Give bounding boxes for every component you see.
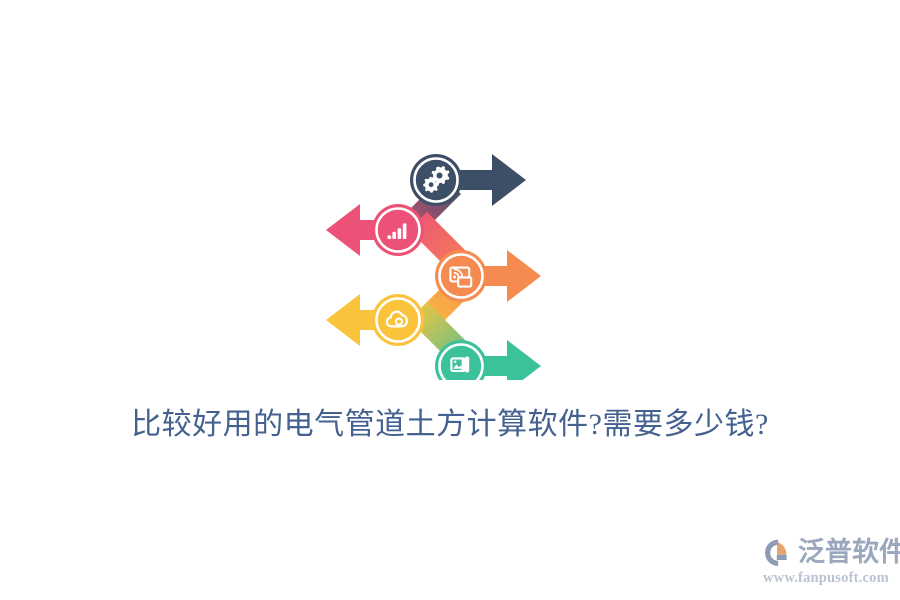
node-2-bar-chart[interactable] [326, 204, 424, 256]
arrow-diagram-svg [296, 140, 556, 380]
logo-fan-shape [777, 542, 786, 554]
node-5-photo-gallery[interactable] [435, 340, 541, 380]
node-4-cloud-sync[interactable] [326, 294, 424, 346]
node-3-badge-ring [435, 250, 487, 302]
logo-bracket-shape [765, 540, 778, 566]
arrow-process-diagram [296, 140, 556, 380]
brand-name: 泛普软件 [798, 535, 900, 569]
logo-bar-shape [777, 555, 787, 560]
node-1-gears[interactable] [410, 154, 526, 206]
page-canvas: 比较好用的电气管道土方计算软件?需要多少钱? 泛普软件 www.fanpusof… [0, 0, 900, 600]
fanpu-logo-icon [762, 535, 796, 569]
page-title: 比较好用的电气管道土方计算软件?需要多少钱? [0, 404, 900, 446]
brand-url: www.fanpusoft.com [763, 570, 896, 587]
brand-watermark: 泛普软件 www.fanpusoft.com [762, 532, 896, 594]
logo-row: 泛普软件 [762, 532, 896, 572]
node-4-badge-ring [372, 294, 424, 346]
node-3-screen-cast[interactable] [435, 250, 541, 302]
